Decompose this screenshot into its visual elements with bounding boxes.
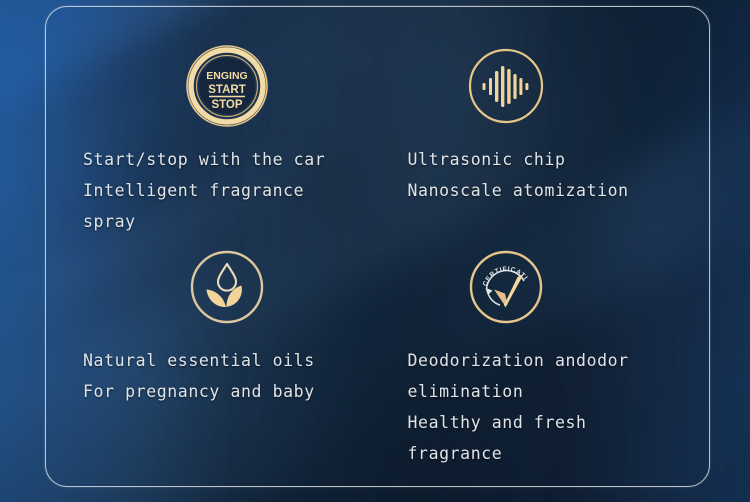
feature-caption: Deodorization andodor elimination Health…	[408, 345, 683, 469]
engine-icon-line3: STOP	[211, 99, 242, 111]
feature-item-ultrasonic-chip: Ultrasonic chip Nanoscale atomization	[378, 44, 701, 239]
engine-icon-line1: ENGING	[206, 70, 247, 82]
ultrasonic-wave-icon	[464, 44, 548, 128]
feature-caption: Ultrasonic chip Nanoscale atomization	[408, 144, 683, 206]
feature-panel-screenshot: ENGING START STOP Start/stop with the ca…	[0, 0, 750, 502]
feature-item-natural-oils: Natural essential oils For pregnancy and…	[55, 239, 378, 469]
feature-caption: Start/stop with the car Intelligent frag…	[73, 144, 360, 237]
feature-caption: Natural essential oils For pregnancy and…	[73, 345, 360, 407]
engine-start-stop-icon: ENGING START STOP	[185, 44, 269, 128]
leaf-droplet-icon	[185, 245, 269, 329]
engine-icon-line2: START	[208, 84, 245, 96]
certification-check-icon: CERTIFICATION	[464, 245, 548, 329]
feature-grid: ENGING START STOP Start/stop with the ca…	[45, 6, 710, 487]
feature-item-engine-start-stop: ENGING START STOP Start/stop with the ca…	[55, 44, 378, 239]
feature-item-certification: CERTIFICATION Deodorization andodor elim…	[378, 239, 701, 469]
